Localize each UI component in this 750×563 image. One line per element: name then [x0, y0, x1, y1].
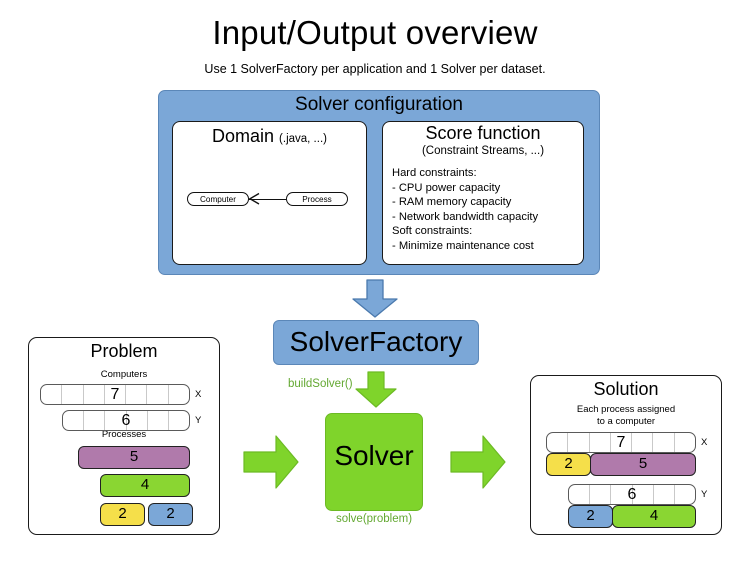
constraint-line: - CPU power capacity — [392, 181, 580, 196]
problem-title: Problem — [28, 341, 220, 362]
capacity-value: 7 — [40, 384, 190, 405]
diagram-canvas: Input/Output overview Use 1 SolverFactor… — [0, 0, 750, 563]
solver-to-solution-arrow-icon — [450, 435, 506, 489]
domain-heading-text: Domain — [212, 126, 274, 146]
process-block: 5 — [78, 446, 190, 469]
config-to-factory-arrow-icon — [352, 280, 398, 318]
axis-label: Y — [701, 484, 707, 505]
process-block: 2 — [100, 503, 145, 526]
capacity-value: 7 — [546, 432, 696, 453]
uml-node-process: Process — [286, 192, 348, 206]
solver-label: Solver — [325, 440, 423, 472]
assigned-process-block: 5 — [590, 453, 696, 476]
constraint-line: - Network bandwidth capacity — [392, 210, 580, 225]
assigned-process-block: 2 — [568, 505, 613, 528]
axis-label: X — [195, 384, 201, 405]
solution-subtitle: Each process assigned to a computer — [530, 404, 722, 428]
solve-problem-call-label: solve(problem) — [325, 513, 423, 525]
solution-computer-row-x: 7 X — [546, 432, 718, 453]
problem-computers-label: Computers — [28, 369, 220, 381]
uml-node-computer: Computer — [187, 192, 249, 206]
process-block: 4 — [100, 474, 190, 497]
solution-subtitle-line2: to a computer — [530, 416, 722, 428]
axis-label: Y — [195, 410, 201, 431]
uml-arrowhead-icon — [249, 193, 259, 205]
problem-to-solver-arrow-icon — [243, 435, 299, 489]
assigned-process-block: 4 — [612, 505, 696, 528]
score-function-heading: Score function — [382, 123, 584, 144]
constraint-line: Hard constraints: — [392, 166, 580, 181]
problem-computer-row-y: 6 Y — [62, 410, 212, 431]
build-solver-call-label: buildSolver() — [288, 378, 353, 390]
axis-label: X — [701, 432, 707, 453]
solution-computer-row-y: 6 Y — [568, 484, 718, 505]
problem-computer-row-x: 7 X — [40, 384, 212, 405]
factory-to-solver-arrow-icon — [355, 372, 397, 408]
constraint-line: Soft constraints: — [392, 224, 580, 239]
page-title: Input/Output overview — [0, 14, 750, 52]
solution-subtitle-line1: Each process assigned — [530, 404, 722, 416]
solver-configuration-title: Solver configuration — [158, 94, 600, 116]
domain-heading: Domain (.java, ...) — [172, 126, 367, 147]
solver-factory-label: SolverFactory — [273, 326, 479, 358]
score-function-constraint-list: Hard constraints:- CPU power capacity- R… — [392, 166, 580, 254]
score-function-subheading: (Constraint Streams, ...) — [382, 145, 584, 157]
constraint-line: - Minimize maintenance cost — [392, 239, 580, 254]
capacity-value: 6 — [568, 484, 696, 505]
solution-title: Solution — [530, 379, 722, 400]
page-subtitle: Use 1 SolverFactory per application and … — [0, 62, 750, 76]
process-block: 2 — [148, 503, 193, 526]
domain-heading-suffix: (.java, ...) — [279, 133, 327, 145]
assigned-process-block: 2 — [546, 453, 591, 476]
capacity-value: 6 — [62, 410, 190, 431]
constraint-line: - RAM memory capacity — [392, 195, 580, 210]
